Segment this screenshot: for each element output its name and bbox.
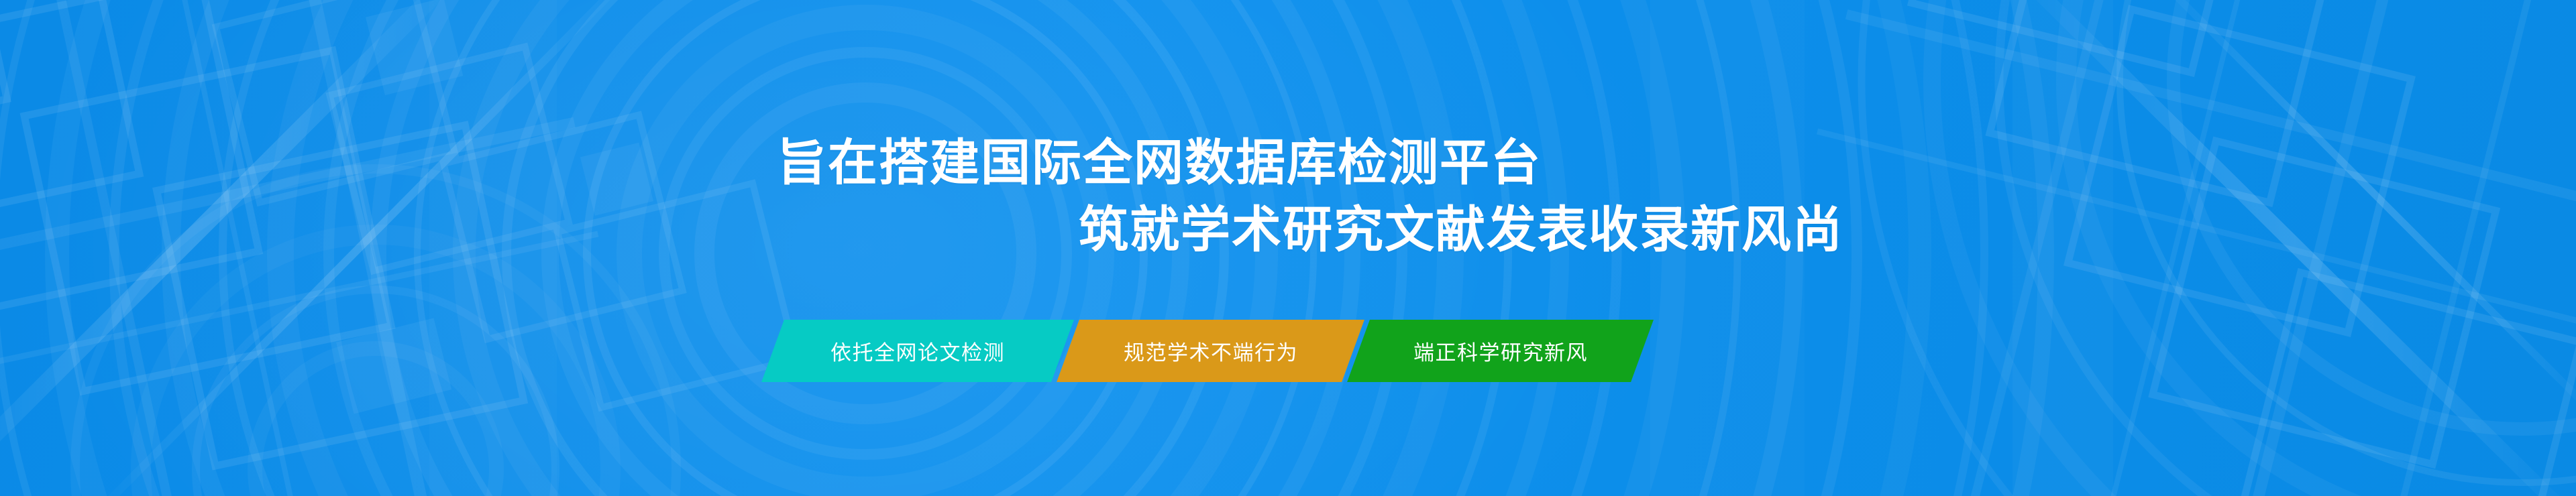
feature-tag-research-ethos[interactable]: 端正科学研究新风 bbox=[1347, 320, 1654, 382]
feature-tag-academic-misconduct[interactable]: 规范学术不端行为 bbox=[1057, 320, 1364, 382]
feature-tag-strip: 依托全网论文检测 规范学术不端行为 端正科学研究新风 bbox=[773, 320, 1642, 382]
feature-tag-label: 端正科学研究新风 bbox=[1413, 336, 1588, 366]
banner-background bbox=[0, 0, 2576, 496]
promo-banner: 旨在搭建国际全网数据库检测平台 筑就学术研究文献发表收录新风尚 依托全网论文检测… bbox=[0, 0, 2576, 496]
feature-tag-label: 依托全网论文检测 bbox=[830, 336, 1005, 366]
feature-tag-paper-detection[interactable]: 依托全网论文检测 bbox=[761, 320, 1074, 382]
feature-tag-label: 规范学术不端行为 bbox=[1124, 336, 1298, 366]
